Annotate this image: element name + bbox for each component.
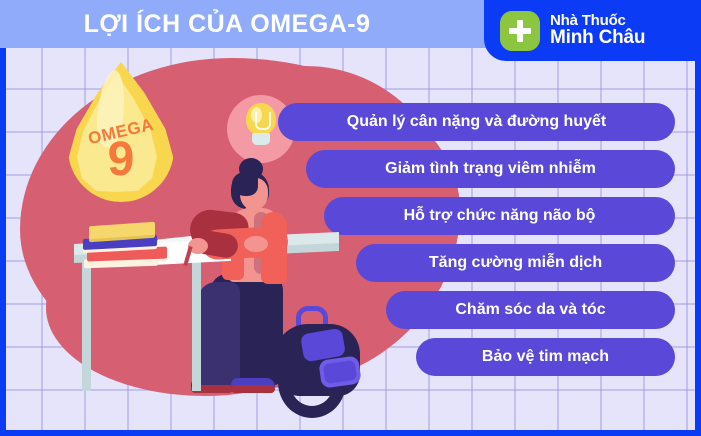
- person-hand-resting: [244, 236, 268, 252]
- brand-line-2: Minh Châu: [550, 28, 645, 47]
- omega-droplet-badge: OMEGA 9: [68, 62, 174, 202]
- benefit-label: Chăm sóc da và tóc: [455, 301, 605, 319]
- grid-paper-background: Quản lý cân nặng và đường huyết Giảm tìn…: [6, 6, 695, 430]
- brand-name: Nhà Thuốc Minh Châu: [550, 13, 645, 48]
- benefit-pill-3[interactable]: Hỗ trợ chức năng não bộ: [324, 197, 675, 235]
- benefit-pill-6[interactable]: Bảo vệ tim mạch: [416, 338, 675, 376]
- benefit-pill-2[interactable]: Giảm tình trạng viêm nhiễm: [306, 150, 675, 188]
- person-leg-far: [198, 282, 240, 388]
- benefit-label: Quản lý cân nặng và đường huyết: [347, 113, 606, 131]
- benefit-pill-5[interactable]: Chăm sóc da và tóc: [386, 291, 675, 329]
- person-shoe-right-sole: [231, 385, 275, 393]
- lightbulb-filament: [255, 112, 271, 130]
- person-hair-front: [232, 172, 258, 196]
- lightbulb-base: [252, 133, 270, 145]
- page-title: LỢI ÍCH CỦA OMEGA-9: [0, 0, 490, 48]
- infographic-canvas: Quản lý cân nặng và đường huyết Giảm tìn…: [0, 0, 701, 436]
- benefit-label: Tăng cường miễn dịch: [429, 254, 602, 272]
- benefit-label: Hỗ trợ chức năng não bộ: [404, 207, 596, 225]
- title-band: LỢI ÍCH CỦA OMEGA-9: [0, 0, 490, 48]
- omega-number: 9: [68, 136, 174, 184]
- benefit-label: Giảm tình trạng viêm nhiễm: [385, 160, 596, 178]
- benefit-label: Bảo vệ tim mạch: [482, 348, 609, 366]
- brand-line-1: Nhà Thuốc: [550, 13, 645, 28]
- benefit-pill-1[interactable]: Quản lý cân nặng và đường huyết: [278, 103, 675, 141]
- benefit-pill-4[interactable]: Tăng cường miễn dịch: [356, 244, 675, 282]
- brand-logo-panel[interactable]: Nhà Thuốc Minh Châu: [484, 0, 701, 61]
- desk-leg-right: [192, 256, 201, 391]
- plus-icon: [500, 11, 540, 51]
- desk-leg-left: [82, 256, 91, 391]
